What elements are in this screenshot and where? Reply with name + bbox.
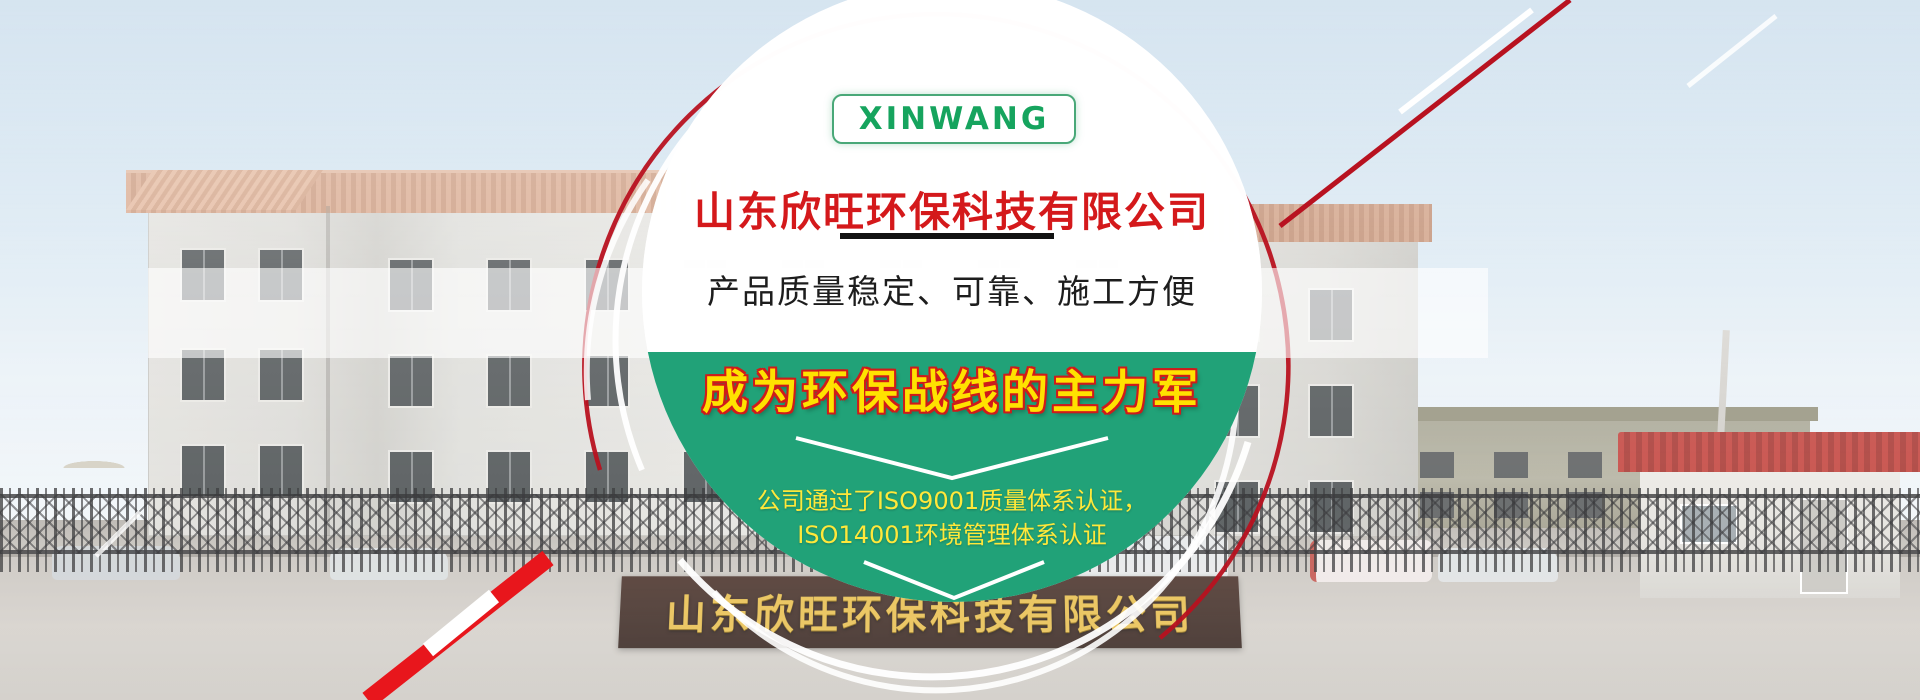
- red-diagonal-line: [1280, 0, 1570, 226]
- subtitle: 产品质量稳定、可靠、施工方便: [642, 265, 1262, 313]
- brand-badge-label: XINWANG: [859, 101, 1050, 137]
- white-diagonal-line: [1688, 16, 1776, 86]
- company-name: 山东欣旺环保科技有限公司: [642, 178, 1262, 238]
- title-divider: [840, 233, 1054, 239]
- certification-line-1: 公司通过了ISO9001质量体系认证，: [642, 484, 1262, 518]
- chevron-down-icon: [860, 558, 1048, 602]
- certification-line-2: ISO14001环境管理体系认证: [642, 518, 1262, 552]
- hero-banner: 山东欣旺环保科技有限公司 XINWANG 山东欣旺环保科技: [0, 0, 1920, 700]
- brand-badge: XINWANG: [832, 94, 1076, 144]
- white-diagonal-band: [428, 596, 494, 650]
- white-diagonal-line: [1400, 10, 1532, 112]
- certification-text: 公司通过了ISO9001质量体系认证， ISO14001环境管理体系认证: [642, 484, 1262, 552]
- white-diagonal-line: [96, 512, 140, 556]
- headline: 成为环保战线的主力军: [642, 356, 1262, 422]
- emblem: XINWANG 山东欣旺环保科技有限公司 产品质量稳定、可靠、施工方便 成为环保…: [642, 0, 1262, 602]
- chevron-down-icon: [792, 434, 1112, 482]
